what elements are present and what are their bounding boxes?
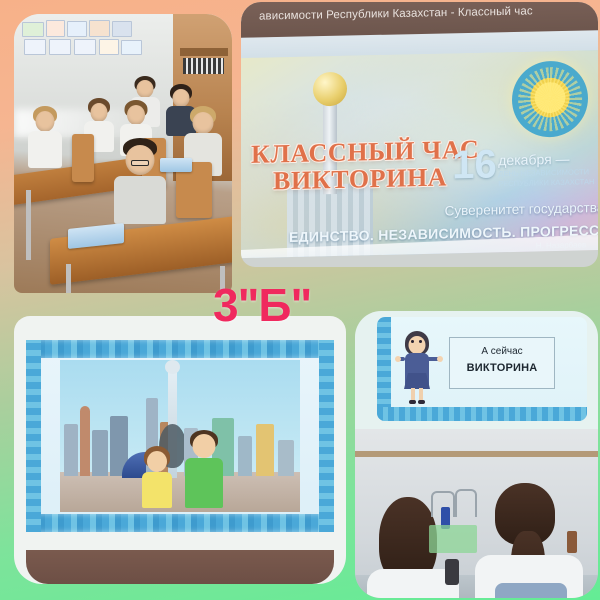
thermos [445,559,459,585]
slide-border-left [26,340,41,532]
slide-decorative-border [26,340,334,532]
slide-border-bottom [377,407,587,421]
projector-title-slide: ависимости Республики Казахстан - Классн… [241,2,598,267]
slide-title: КЛАССНЫЙ ЧАС ВИКТОРИНА [251,137,479,195]
wall-below-screen [26,550,334,584]
small-bottle [567,531,577,553]
date-subtitle: ДЕНЬ НЕЗАВИСИМОСТИ РЕСПУБЛИКИ КАЗАХСТАН [498,167,598,190]
slide-canvas: КЛАССНЫЙ ЧАС ВИКТОРИНА 16 декабря — ДЕНЬ… [241,50,598,258]
cartoon-teacher-icon [395,331,439,405]
classroom-students-photo [14,14,232,293]
whiteboard-rail [355,451,598,457]
glasses-icon [131,160,149,166]
chair [72,134,94,182]
wall-shelf [180,48,228,56]
quiz-text-box: А сейчас ВИКТОРИНА [449,337,555,389]
presentation-window-title: ависимости Республики Казахстан - Классн… [259,5,533,22]
pupil-right [481,479,577,598]
students-back-view-photo [355,429,598,598]
cartoon-city-slide [14,316,346,584]
quiz-line1: А сейчас [450,346,554,357]
slide-title-line2: ВИКТОРИНА [251,163,479,195]
photo-collage: ависимости Республики Казахстан - Классн… [0,0,600,600]
slide-border-right [319,340,334,532]
class-label: 3"Б" [213,282,311,328]
pupil [28,106,62,168]
pupil-foreground [114,138,166,224]
quiz-and-students-photo: А сейчас ВИКТОРИНА [355,311,598,598]
slide-border-left [377,317,391,421]
quiz-announcement-slide: А сейчас ВИКТОРИНА [355,311,598,431]
date-month: декабря — [498,151,569,169]
date-number: 16 [452,144,497,185]
lab-stand [455,489,477,517]
binder-folders [183,58,224,74]
quiz-line2: ВИКТОРИНА [450,362,554,374]
green-tray [429,525,477,553]
